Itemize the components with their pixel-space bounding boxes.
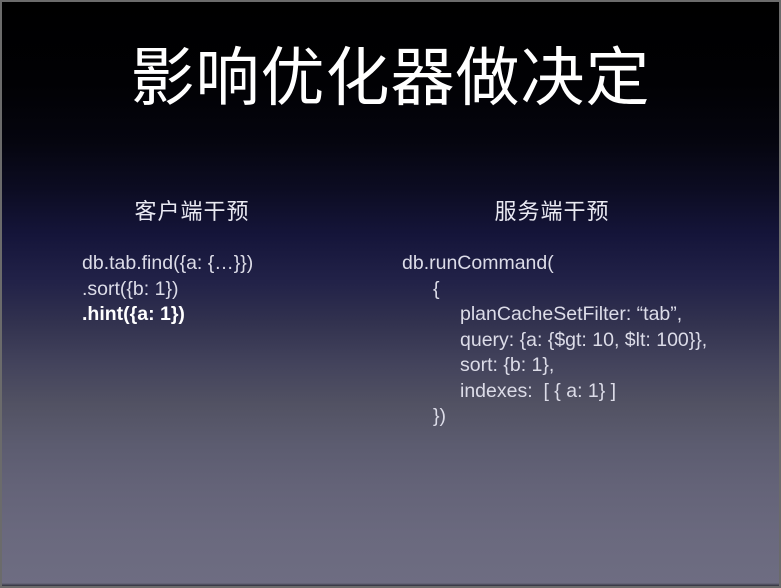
column-heading-server: 服务端干预 — [427, 194, 677, 226]
code-line: query: {a: {$gt: 10, $lt: 100}}, — [402, 328, 707, 354]
column-heading-client: 客户端干预 — [67, 194, 317, 226]
code-line: { — [402, 277, 707, 303]
presentation-slide: 影响优化器做决定 客户端干预 服务端干预 db.tab.find({a: {…}… — [0, 0, 781, 588]
code-line: planCacheSetFilter: “tab”, — [402, 302, 707, 328]
code-block-server: db.runCommand({planCacheSetFilter: “tab”… — [402, 251, 707, 430]
code-line: }) — [402, 404, 707, 430]
code-line: .hint({a: 1}) — [82, 302, 253, 328]
code-line: .sort({b: 1}) — [82, 277, 253, 303]
code-line: indexes: [ { a: 1} ] — [402, 379, 707, 405]
code-line: db.runCommand( — [402, 251, 707, 277]
code-line: db.tab.find({a: {…}}) — [82, 251, 253, 277]
slide-title: 影响优化器做决定 — [2, 46, 779, 110]
code-block-client: db.tab.find({a: {…}}).sort({b: 1}).hint(… — [82, 251, 253, 328]
code-line: sort: {b: 1}, — [402, 353, 707, 379]
